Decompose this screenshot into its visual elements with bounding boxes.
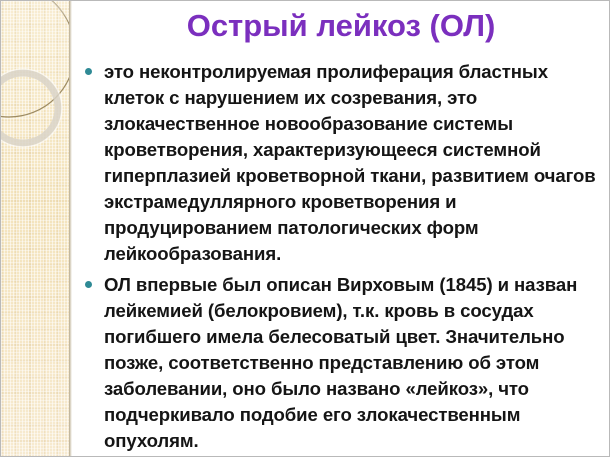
- large-arc-icon: [1, 1, 69, 117]
- slide: Острый лейкоз (ОЛ) это неконтролируемая …: [0, 0, 610, 457]
- body-content: это неконтролируемая пролиферация бластн…: [85, 59, 597, 457]
- list-item-text: ОЛ впервые был описан Вирховым (1845) и …: [104, 272, 597, 454]
- list-item-text: это неконтролируемая пролиферация бластн…: [104, 59, 597, 267]
- arc-gloss-icon: [9, 1, 69, 51]
- sidebar-decoration: [1, 1, 69, 161]
- bullet-dot-icon: [85, 281, 92, 288]
- bullet-dot-icon: [85, 68, 92, 75]
- page-title: Острый лейкоз (ОЛ): [79, 5, 603, 47]
- list-item: ОЛ впервые был описан Вирховым (1845) и …: [85, 272, 597, 454]
- sidebar-decorative-band: [1, 1, 69, 457]
- sidebar-edge-line: [69, 1, 72, 457]
- large-arc-highlight-icon: [1, 1, 69, 119]
- ring-icon: [1, 73, 58, 143]
- list-item: это неконтролируемая пролиферация бластн…: [85, 59, 597, 267]
- ring-outer-highlight-icon: [1, 69, 62, 147]
